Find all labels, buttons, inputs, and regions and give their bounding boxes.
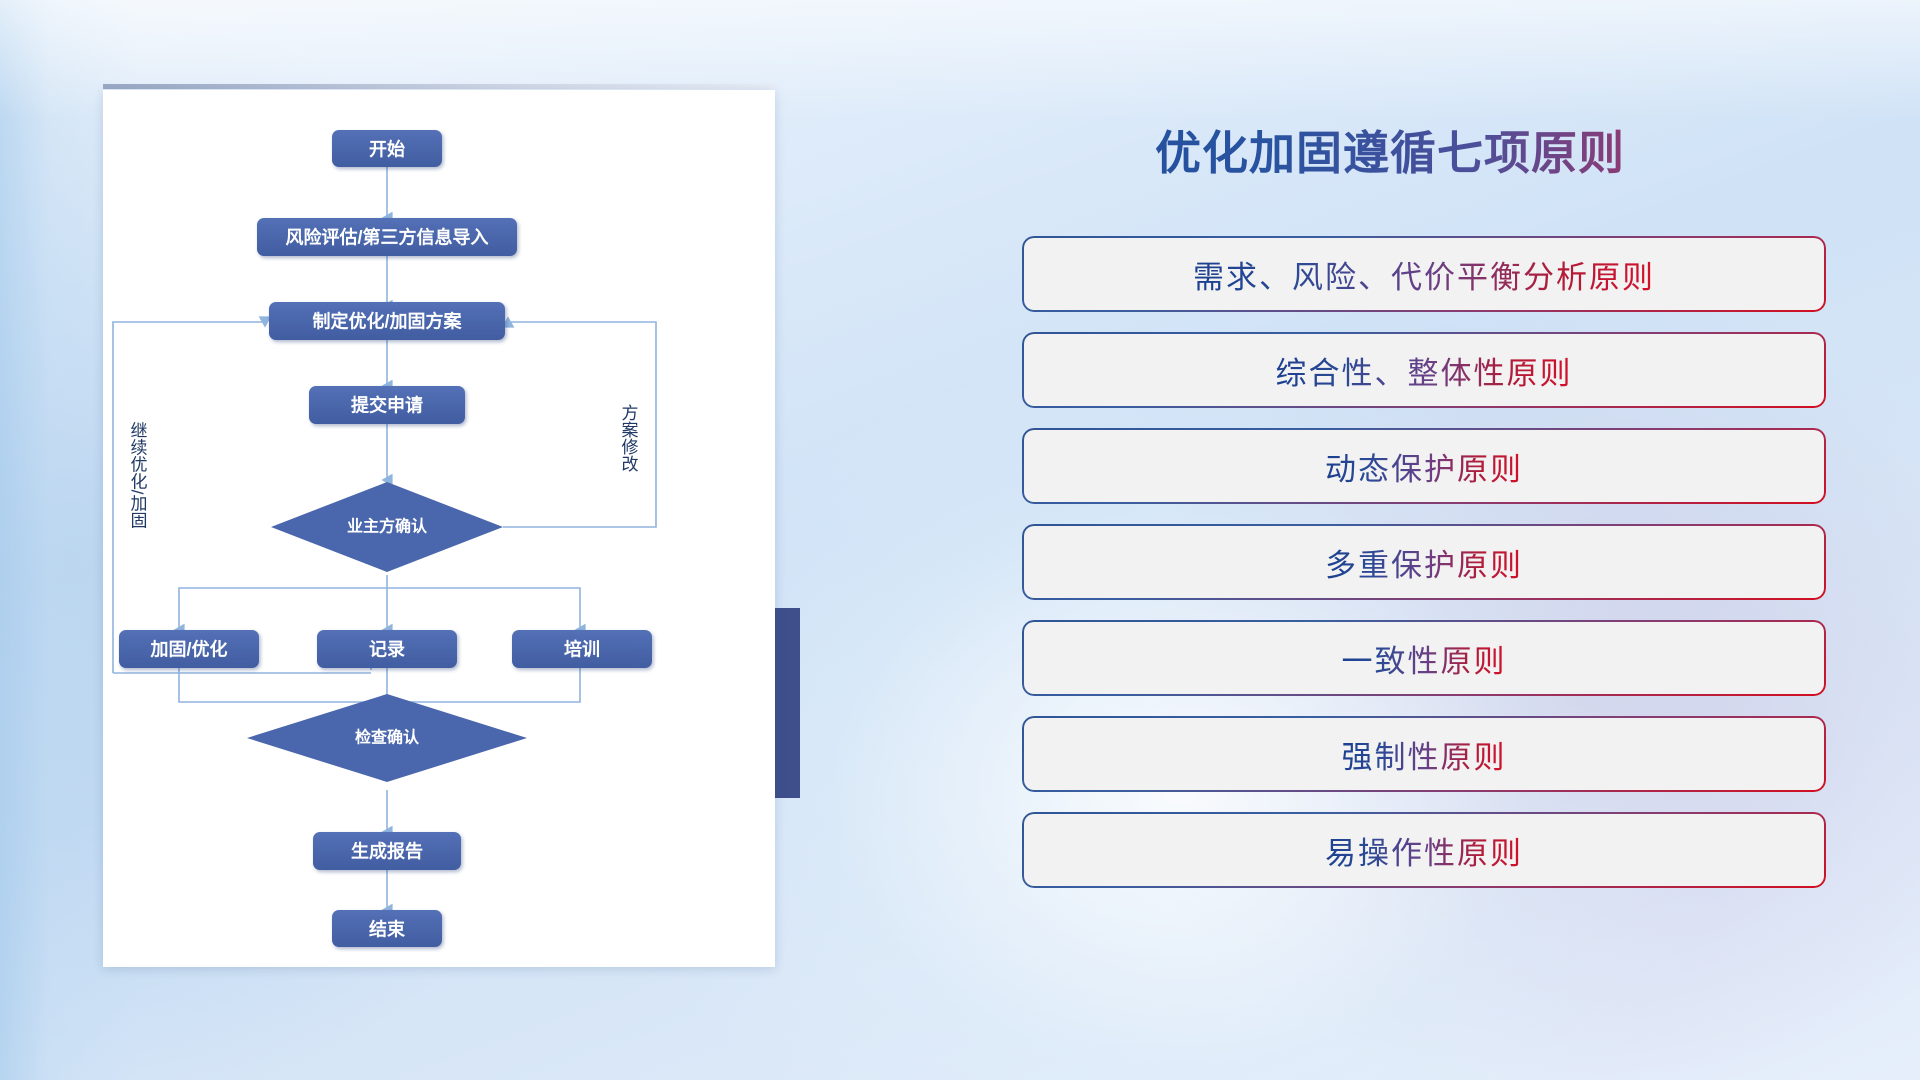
principles-list: 需求、风险、代价平衡分析原则 综合性、整体性原则 动态保护原则 多重保护原则 一…	[1024, 238, 1824, 910]
principle-label: 动态保护原则	[1325, 444, 1523, 489]
flow-node-end: 结束	[332, 910, 442, 947]
flow-node-label: 记录	[369, 640, 405, 660]
flow-node-label: 结束	[369, 919, 406, 940]
flow-node-label: 业主方确认	[347, 517, 428, 536]
slide-canvas: 开始 风险评估/第三方信息导入 制定优化/加固方案 提交申请 业主方确认 加固/…	[0, 0, 1920, 1080]
flow-node-train: 培训	[512, 630, 652, 668]
flow-node-label: 加固/优化	[149, 639, 227, 660]
principle-item-3[interactable]: 动态保护原则	[1024, 430, 1824, 502]
principle-item-2[interactable]: 综合性、整体性原则	[1024, 334, 1824, 406]
page-title: 优化加固遵循七项原则	[1020, 117, 1760, 183]
flow-node-label: 检查确认	[355, 728, 420, 747]
flow-node-report: 生成报告	[313, 832, 461, 870]
flow-node-inspect: 检查确认	[247, 694, 527, 782]
principle-label: 综合性、整体性原则	[1276, 348, 1573, 393]
flowchart-diagram: 开始 风险评估/第三方信息导入 制定优化/加固方案 提交申请 业主方确认 加固/…	[103, 90, 775, 967]
principle-label: 需求、风险、代价平衡分析原则	[1193, 252, 1655, 297]
principle-item-6[interactable]: 强制性原则	[1024, 718, 1824, 790]
flow-node-label: 生成报告	[351, 841, 423, 862]
flow-node-label: 风险评估/第三方信息导入	[286, 227, 489, 248]
flow-node-label: 制定优化/加固方案	[312, 311, 462, 332]
card-top-rule	[103, 84, 775, 89]
flow-node-label: 开始	[369, 139, 405, 160]
flow-node-ownercheck: 业主方确认	[271, 482, 503, 572]
principle-item-1[interactable]: 需求、风险、代价平衡分析原则	[1024, 238, 1824, 310]
flow-node-risk: 风险评估/第三方信息导入	[257, 218, 517, 256]
principle-label: 多重保护原则	[1325, 540, 1523, 585]
flow-node-start: 开始	[332, 130, 442, 167]
principle-label: 一致性原则	[1342, 636, 1507, 681]
principle-item-4[interactable]: 多重保护原则	[1024, 526, 1824, 598]
principle-label: 强制性原则	[1342, 732, 1507, 777]
flow-node-submit: 提交申请	[309, 386, 465, 424]
principle-label: 易操作性原则	[1325, 828, 1523, 873]
flow-node-record: 记录	[317, 630, 457, 668]
flow-node-label: 提交申请	[351, 395, 423, 416]
flow-edge-label-right: 方案修改	[619, 404, 639, 472]
flow-edge-label-left: 继续优化/加固	[128, 422, 148, 529]
principle-item-7[interactable]: 易操作性原则	[1024, 814, 1824, 886]
principle-item-5[interactable]: 一致性原则	[1024, 622, 1824, 694]
flow-node-plan: 制定优化/加固方案	[269, 302, 505, 340]
flow-node-reinforce: 加固/优化	[119, 630, 259, 668]
flow-node-label: 培训	[564, 639, 600, 660]
